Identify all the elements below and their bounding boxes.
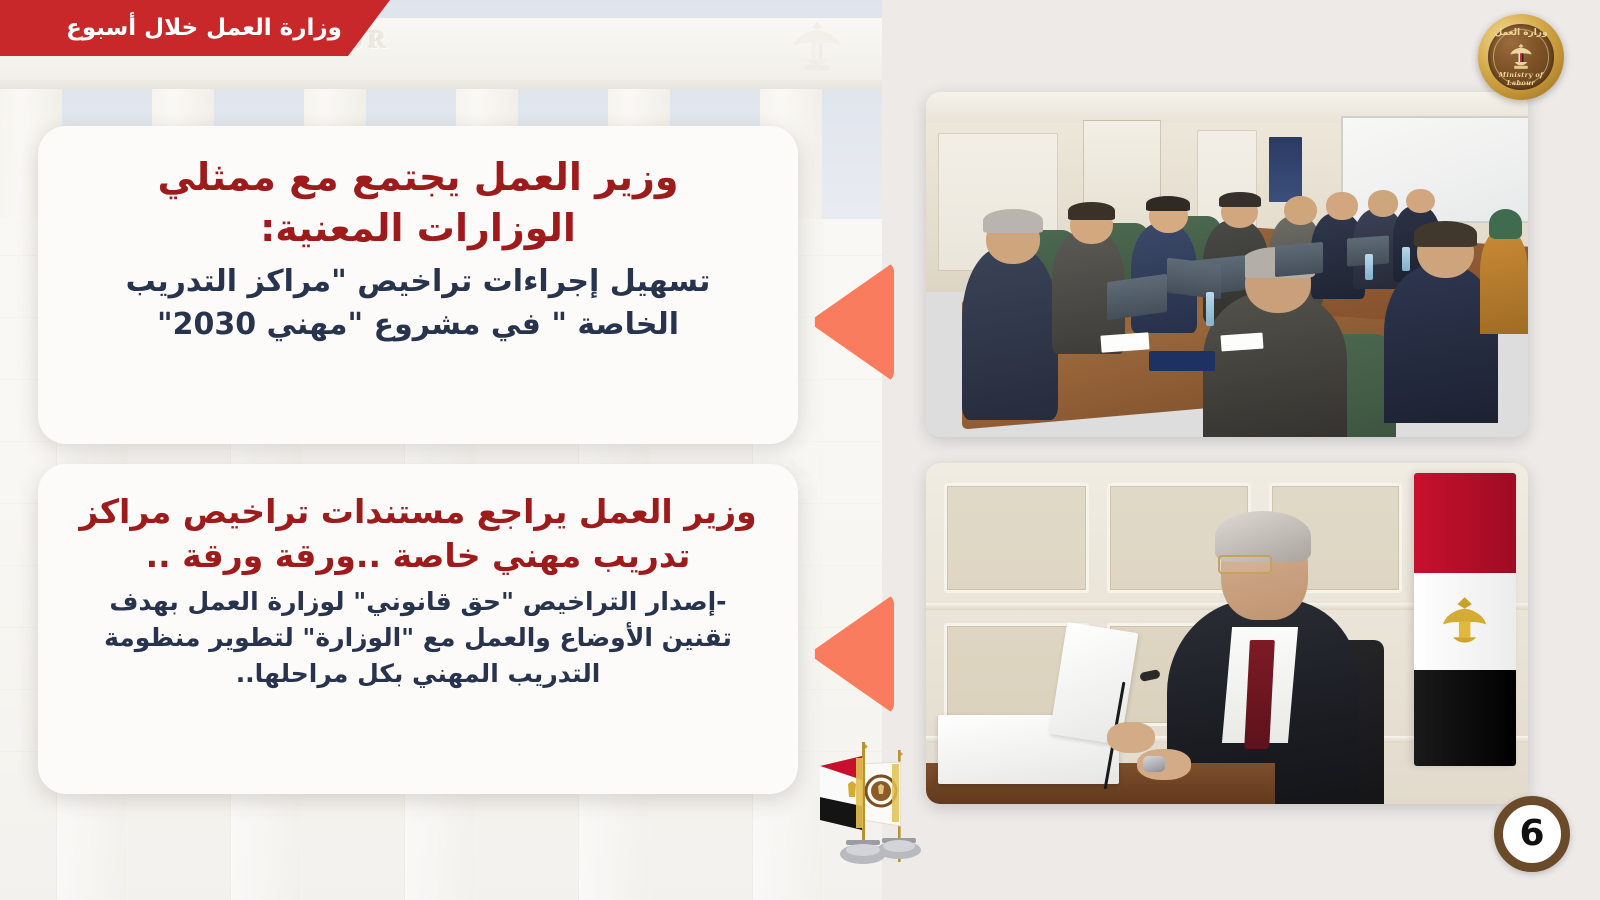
ministry-logo-seal[interactable]: وزارة العمل Ministry of Labour	[1478, 14, 1564, 100]
egypt-flag-icon	[1414, 473, 1516, 766]
meeting-photo-scene	[926, 92, 1528, 437]
page-number-badge: 6	[1494, 796, 1570, 872]
seal-arabic-text: وزارة العمل	[1488, 28, 1553, 38]
news-card-1-body: تسهيل إجراءات تراخيص "مراكز التدريب الخا…	[74, 260, 762, 346]
header-banner: وزارة العمل خلال أسبوع	[0, 0, 390, 56]
news-card-1-title: وزير العمل يجتمع مع ممثلي الوزارات المعن…	[74, 152, 762, 254]
news-card-2[interactable]: وزير العمل يراجع مستندات تراخيص مراكز تد…	[38, 464, 798, 794]
page-number-value: 6	[1519, 816, 1544, 852]
news-card-2-body: -إصدار التراخيص "حق قانوني" لوزارة العمل…	[74, 584, 762, 692]
desk-flags-decoration	[812, 734, 932, 894]
header-banner-title: وزارة العمل خلال أسبوع	[48, 15, 342, 41]
slide-root: MINISTRY OF LABOUR	[0, 0, 1600, 900]
building-cornice-shadow	[0, 80, 882, 89]
seal-english-text: Ministry of Labour	[1488, 71, 1553, 87]
seal-eagle-icon	[1508, 43, 1534, 72]
meeting-photo[interactable]	[926, 92, 1528, 437]
minister-photo[interactable]	[926, 463, 1528, 804]
eagle-emblem-icon	[790, 18, 844, 76]
news-card-2-title: وزير العمل يراجع مستندات تراخيص مراكز تد…	[74, 490, 762, 578]
news-card-1[interactable]: وزير العمل يجتمع مع ممثلي الوزارات المعن…	[38, 126, 798, 444]
minister-photo-scene	[926, 463, 1528, 804]
seal-core: وزارة العمل Ministry of Labour	[1488, 24, 1553, 89]
